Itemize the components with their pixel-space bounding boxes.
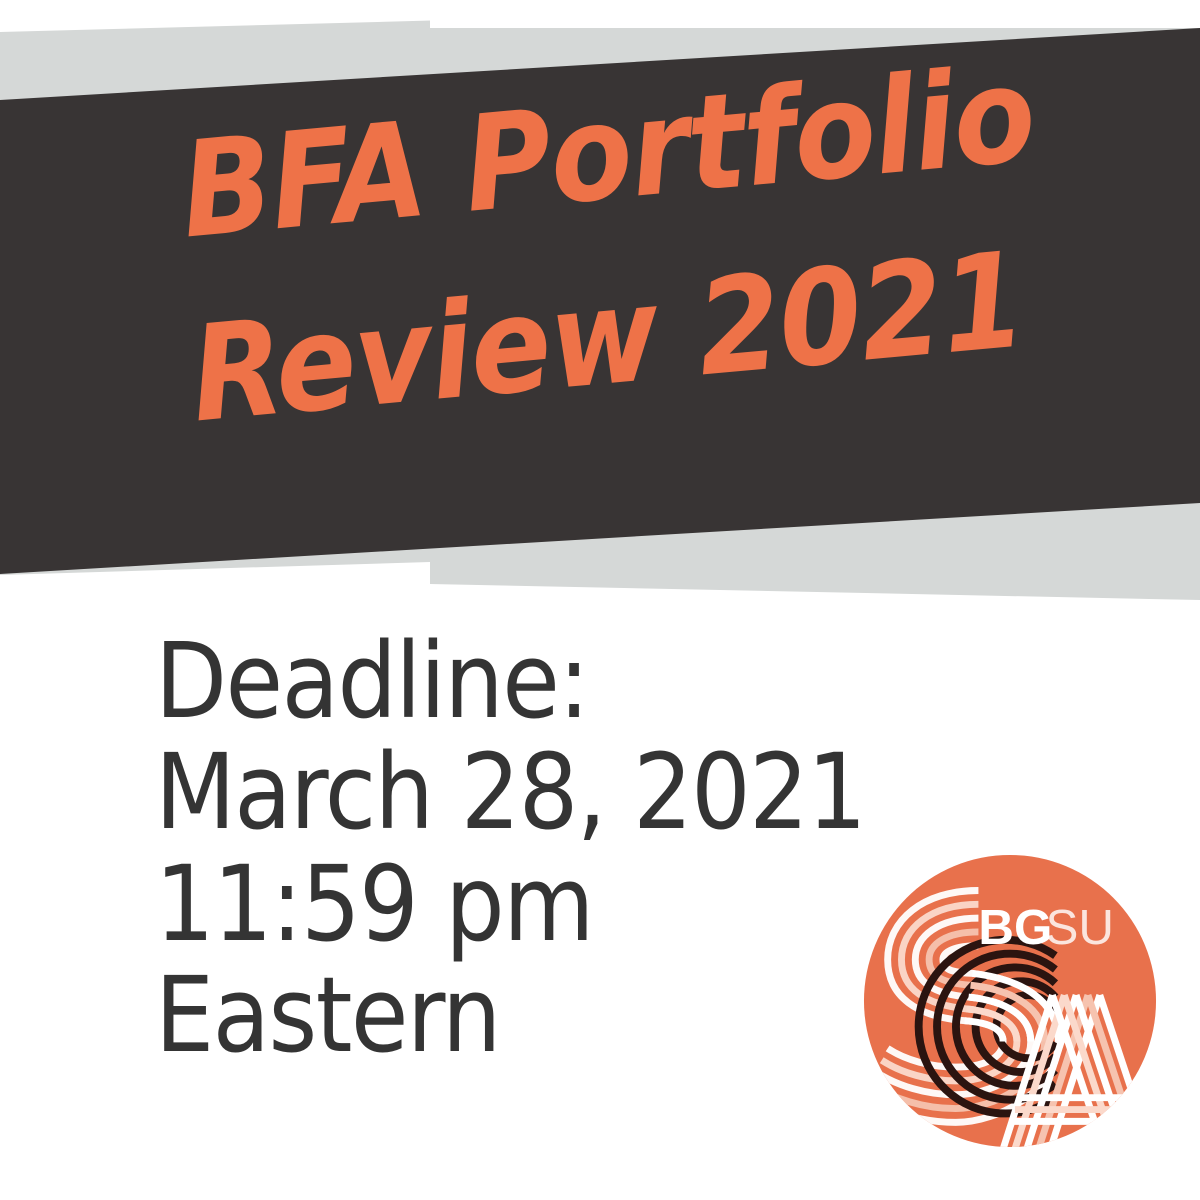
deadline-label: Deadline:: [155, 626, 895, 737]
wordmark-bg: BG: [978, 900, 1052, 955]
bgsu-sca-logo: BG SU: [862, 853, 1158, 1149]
deadline-text-block: Deadline: March 28, 2021 11:59 pm Easter…: [155, 626, 895, 1071]
dark-banner-shape: [0, 28, 1200, 574]
wordmark-su: SU: [1046, 900, 1115, 955]
deadline-date: March 28, 2021: [155, 737, 895, 848]
white-cut-top-right: [430, 0, 1200, 28]
deadline-time: 11:59 pm: [155, 849, 895, 960]
deadline-timezone: Eastern: [155, 960, 895, 1071]
logo-wordmark: BG SU: [978, 900, 1114, 955]
banner-background: [0, 0, 1200, 620]
poster-canvas: BFA Portfolio Review 2021 Deadline: Marc…: [0, 0, 1200, 1200]
